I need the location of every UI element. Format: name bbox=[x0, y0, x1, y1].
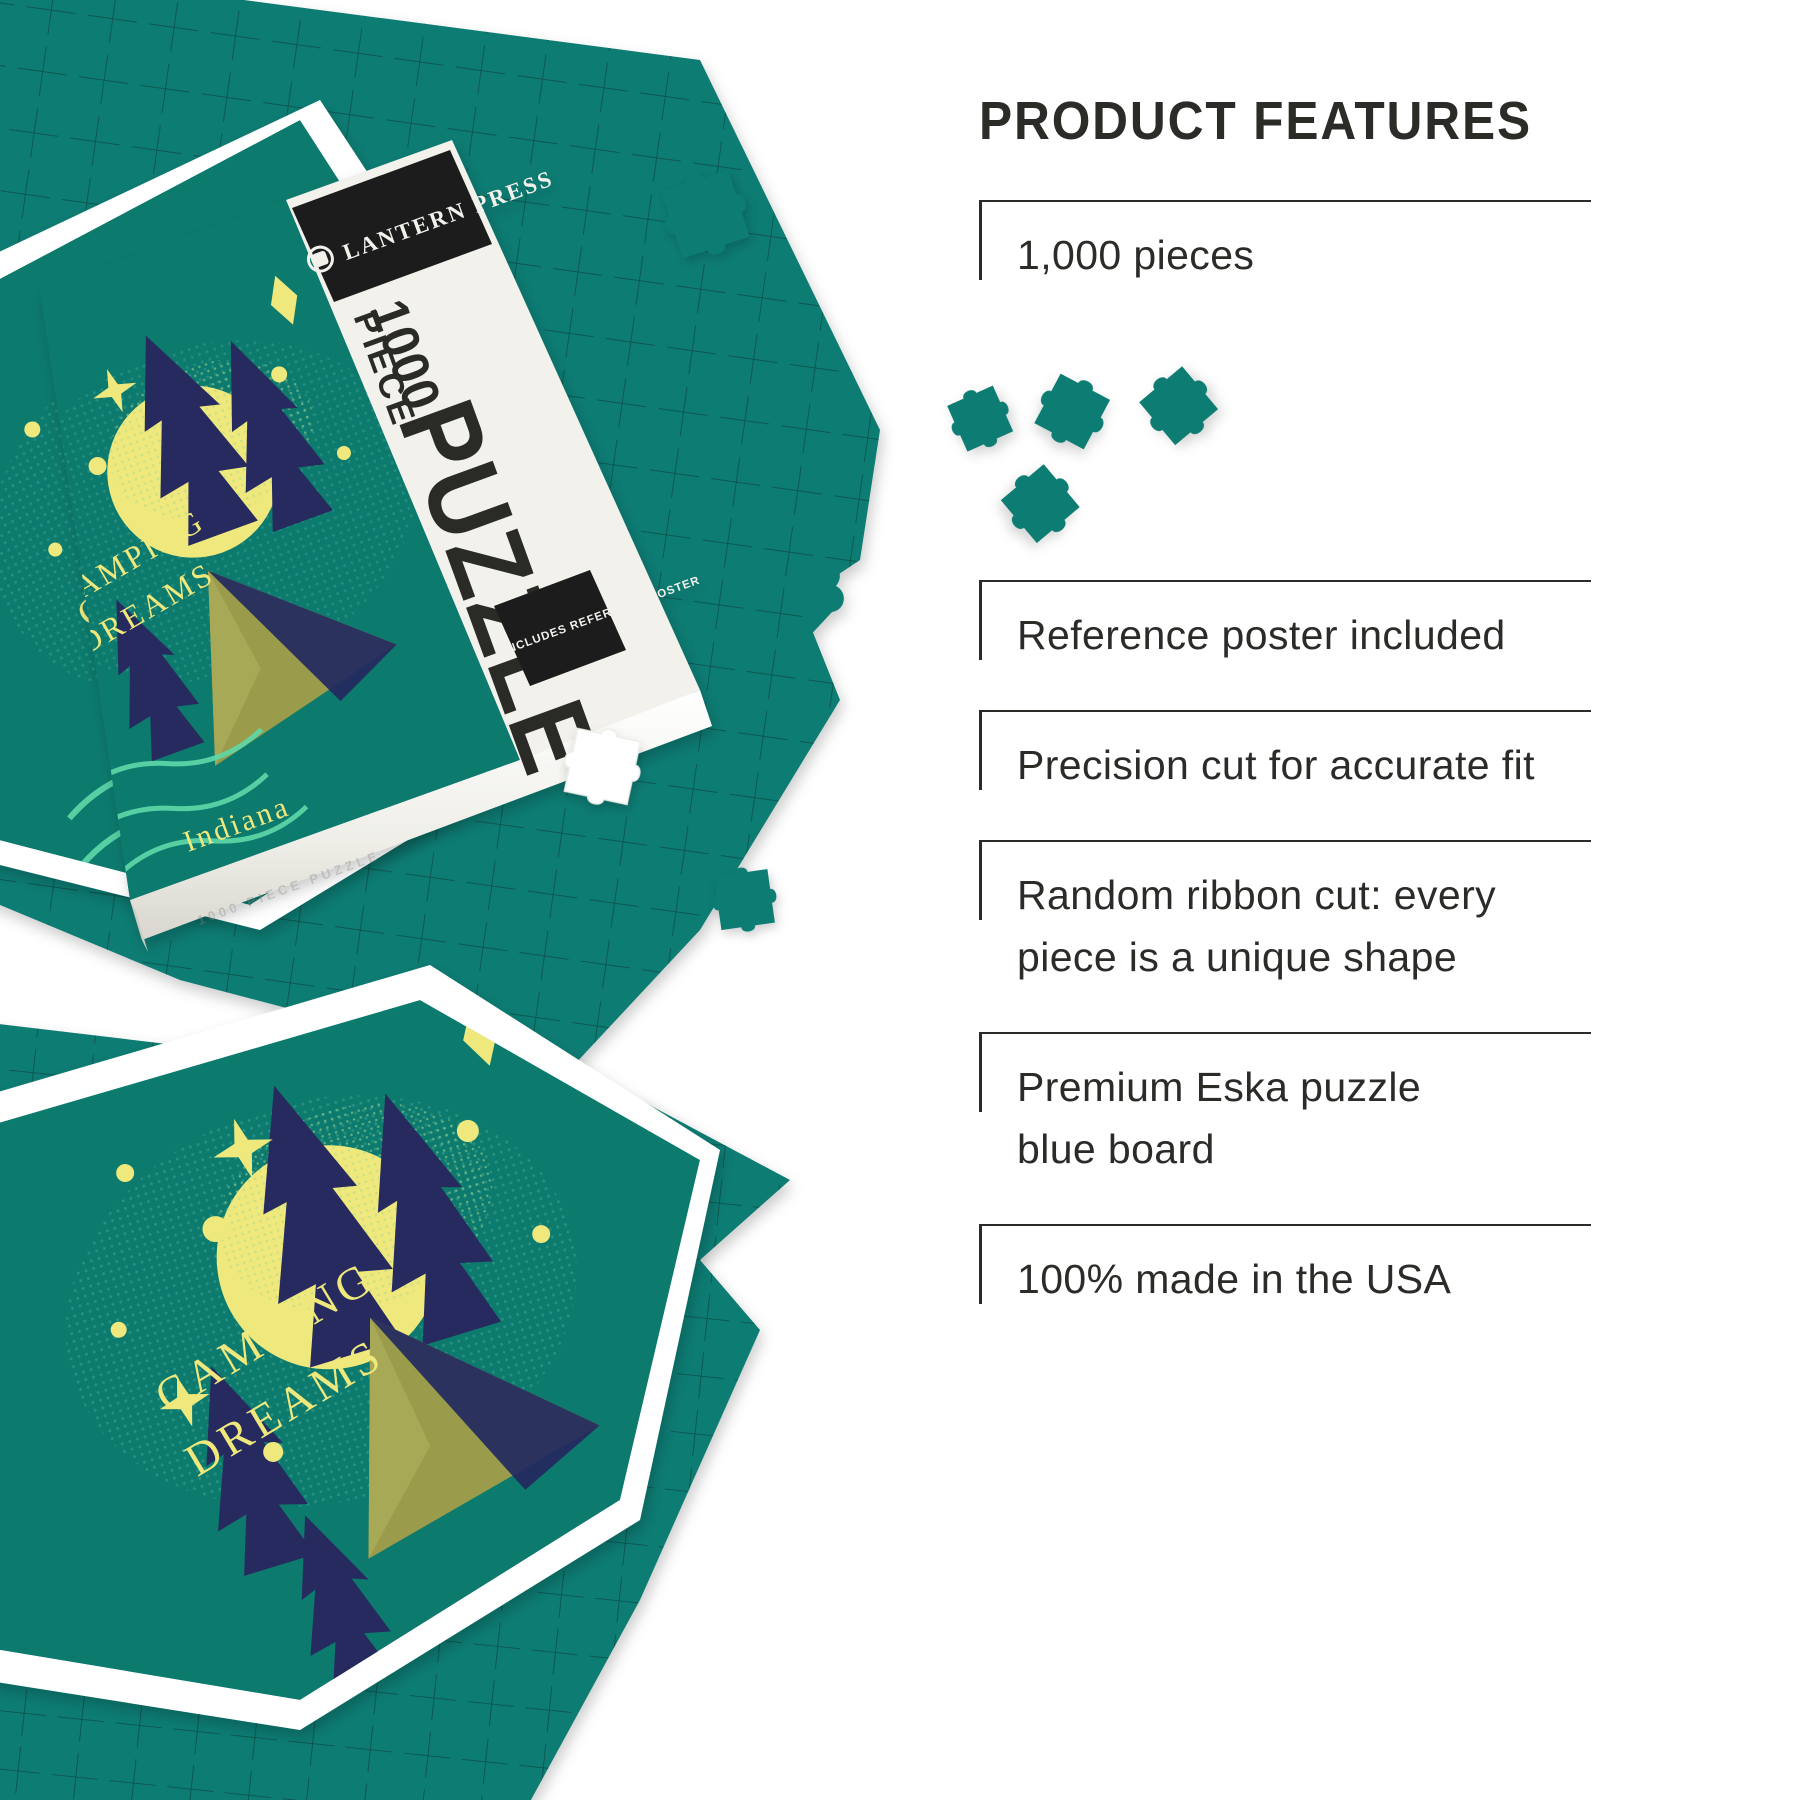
product-photo: CAMPING DREAMS bbox=[0, 0, 1000, 1800]
feature-bracket bbox=[979, 1226, 982, 1304]
feature-label: Precision cut for accurate fit bbox=[979, 712, 1591, 796]
feature-label: 100% made in the USA bbox=[979, 1226, 1591, 1310]
feature-bracket bbox=[979, 842, 982, 920]
feature-bracket bbox=[979, 202, 982, 280]
feature-label: Random ribbon cut: every piece is a uniq… bbox=[979, 842, 1591, 988]
feature-item: Reference poster included bbox=[979, 580, 1591, 684]
feature-label: Reference poster included bbox=[979, 582, 1591, 666]
page-title: PRODUCT FEATURES bbox=[979, 90, 1702, 152]
feature-item: 1,000 pieces bbox=[979, 200, 1591, 350]
product-features-panel: PRODUCT FEATURES 1,000 pieces Reference … bbox=[975, 90, 1765, 1590]
feature-label: 1,000 pieces bbox=[979, 202, 1591, 286]
feature-label: Premium Eska puzzle blue board bbox=[979, 1034, 1591, 1180]
feature-item: 100% made in the USA bbox=[979, 1224, 1591, 1334]
feature-bracket bbox=[979, 1034, 982, 1112]
feature-item: Premium Eska puzzle blue board bbox=[979, 1032, 1591, 1198]
product-feature-graphic: CAMPING DREAMS bbox=[0, 0, 1800, 1800]
feature-item: Random ribbon cut: every piece is a uniq… bbox=[979, 840, 1591, 1006]
feature-bracket bbox=[979, 712, 982, 790]
photo-svg: CAMPING DREAMS bbox=[0, 0, 1000, 1800]
feature-bracket bbox=[979, 582, 982, 660]
feature-item: Precision cut for accurate fit bbox=[979, 710, 1591, 814]
